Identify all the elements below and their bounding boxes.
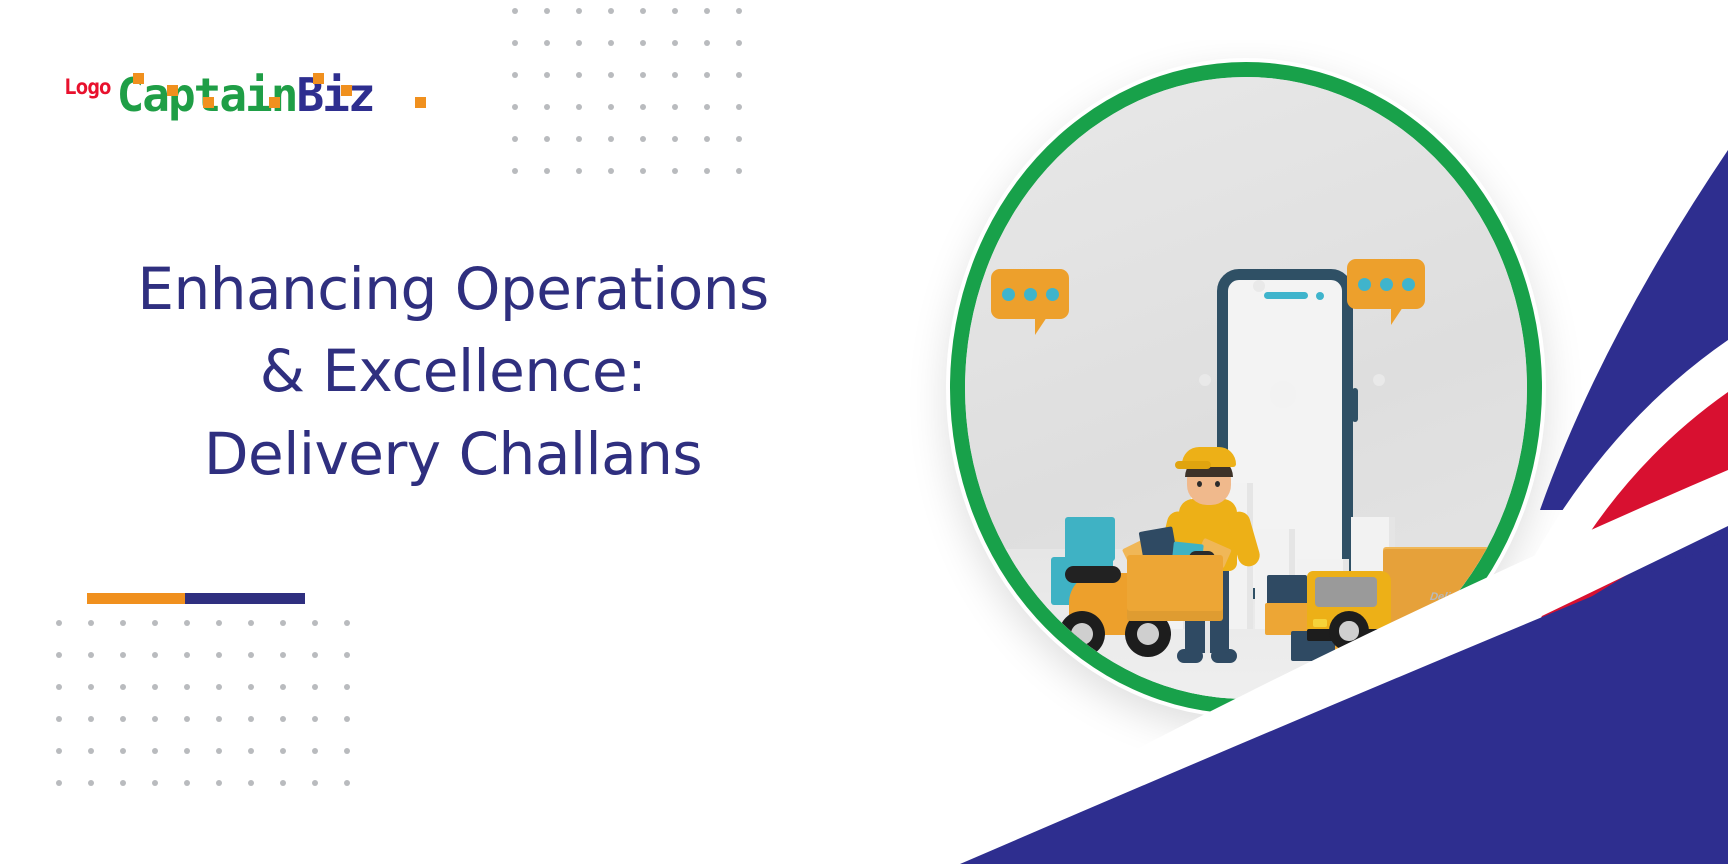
decorative-dot <box>216 780 222 786</box>
decorative-dot <box>608 136 614 142</box>
decorative-dot <box>576 40 582 46</box>
decorative-dot <box>544 72 550 78</box>
decorative-dot <box>184 780 190 786</box>
decorative-dot <box>736 104 742 110</box>
logo-accent-square-1 <box>133 73 144 84</box>
logo-badge-text: Logo <box>64 77 111 118</box>
decorative-dot <box>704 168 710 174</box>
decorative-dot <box>88 780 94 786</box>
decorative-dot <box>344 652 350 658</box>
chat-bubble-icon <box>991 269 1069 319</box>
scooter-seat <box>1065 566 1121 583</box>
decorative-dot <box>248 716 254 722</box>
decorative-dot <box>512 40 518 46</box>
decorative-dot <box>344 716 350 722</box>
decorative-dot <box>576 8 582 14</box>
decorative-dot <box>736 40 742 46</box>
teal-box <box>1065 517 1115 561</box>
truck-brand-label: Delivery <box>1429 591 1473 603</box>
decorative-dot <box>248 748 254 754</box>
accent-bar-segment-orange <box>87 593 185 604</box>
parcel-box <box>1127 555 1223 621</box>
decorative-dot <box>152 716 158 722</box>
decorative-dot <box>184 684 190 690</box>
brand-wordmark: CaptainBiz <box>117 72 374 118</box>
decorative-dot <box>640 40 646 46</box>
decorative-dot <box>280 748 286 754</box>
decorative-dot <box>56 652 62 658</box>
truck-wheel <box>1329 611 1369 651</box>
title-line-1: Enhancing Operations <box>48 248 858 330</box>
logo-accent-square-3 <box>203 97 214 108</box>
decorative-dot <box>280 780 286 786</box>
location-pin-icon <box>1245 273 1273 301</box>
decorative-dot <box>512 104 518 110</box>
decorative-dot <box>184 652 190 658</box>
decorative-dot <box>280 620 286 626</box>
decorative-dot <box>88 684 94 690</box>
decorative-dot <box>704 40 710 46</box>
brand-name-part-2: Biz <box>296 72 373 118</box>
decorative-dot <box>152 684 158 690</box>
decorative-dot <box>672 104 678 110</box>
chat-bubble-icon <box>1347 259 1425 309</box>
decorative-dot <box>120 652 126 658</box>
location-pin-icon <box>1191 367 1219 395</box>
decorative-dot <box>672 8 678 14</box>
decorative-dot <box>56 780 62 786</box>
decorative-dot <box>120 780 126 786</box>
decorative-dot <box>672 168 678 174</box>
decorative-dot <box>152 748 158 754</box>
decorative-dot-grid-top <box>512 8 802 188</box>
decorative-dot <box>184 716 190 722</box>
decorative-dot <box>672 72 678 78</box>
decorative-dot <box>152 780 158 786</box>
logo-accent-square-5 <box>313 73 324 84</box>
location-pin-icon <box>1365 367 1393 395</box>
decorative-dot <box>120 620 126 626</box>
delivery-truck: Delivery <box>1307 531 1489 651</box>
decorative-dot <box>216 652 222 658</box>
decorative-dot <box>704 72 710 78</box>
decorative-dot <box>56 716 62 722</box>
scooter-wheel <box>1059 611 1105 657</box>
chat-bubble-dot <box>1380 278 1393 291</box>
decorative-dot <box>736 168 742 174</box>
decorative-dot <box>544 168 550 174</box>
title-line-2: & Excellence: <box>48 330 858 412</box>
courier-cap-brim <box>1175 461 1211 469</box>
chat-bubble-dot <box>1046 288 1059 301</box>
decorative-dot <box>152 620 158 626</box>
decorative-dot <box>312 780 318 786</box>
courier-eye <box>1197 481 1202 487</box>
decorative-dot <box>544 40 550 46</box>
decorative-dot <box>344 620 350 626</box>
decorative-dot <box>640 72 646 78</box>
truck-window <box>1315 577 1377 607</box>
decorative-dot <box>248 684 254 690</box>
decorative-dot <box>312 748 318 754</box>
decorative-dot <box>344 684 350 690</box>
courier-eye <box>1215 481 1220 487</box>
decorative-dot <box>184 620 190 626</box>
truck-headlight <box>1313 619 1327 627</box>
green-circle-frame: Delivery <box>950 62 1542 714</box>
decorative-dot <box>88 652 94 658</box>
decorative-dot <box>544 8 550 14</box>
title-accent-bar <box>87 593 305 604</box>
phone-side-button <box>1352 388 1358 422</box>
parcel <box>1267 575 1307 605</box>
decorative-dot <box>704 8 710 14</box>
chat-bubble-dot <box>1024 288 1037 301</box>
decorative-dot <box>736 72 742 78</box>
decorative-dot <box>248 780 254 786</box>
title-line-3: Delivery Challans <box>48 413 858 495</box>
decorative-dot <box>120 716 126 722</box>
decorative-dot <box>512 72 518 78</box>
decorative-dot <box>152 652 158 658</box>
decorative-dot <box>576 104 582 110</box>
decorative-dot <box>544 104 550 110</box>
decorative-dot <box>280 684 286 690</box>
chat-bubble-dot <box>1002 288 1015 301</box>
decorative-dot <box>56 620 62 626</box>
decorative-dot <box>120 748 126 754</box>
logo-accent-square-2 <box>167 85 178 96</box>
decorative-dot <box>704 104 710 110</box>
decorative-dot <box>576 136 582 142</box>
decorative-dot <box>608 72 614 78</box>
decorative-dot <box>120 684 126 690</box>
decorative-dot <box>344 780 350 786</box>
illustration-photo: Delivery <box>965 77 1527 699</box>
decorative-dot <box>608 104 614 110</box>
slide-canvas: Logo CaptainBiz Enhancing Operations & E… <box>0 0 1728 864</box>
decorative-dot <box>56 684 62 690</box>
decorative-dot <box>184 748 190 754</box>
decorative-dot <box>312 684 318 690</box>
decorative-dot <box>608 168 614 174</box>
decorative-dot <box>280 716 286 722</box>
decorative-dot <box>544 136 550 142</box>
hero-illustration: Delivery <box>900 40 1728 864</box>
decorative-dot <box>216 716 222 722</box>
decorative-dot <box>640 136 646 142</box>
decorative-dot <box>640 8 646 14</box>
chat-bubble-dot <box>1358 278 1371 291</box>
phone-camera-dot <box>1316 292 1324 300</box>
decorative-dot <box>576 72 582 78</box>
decorative-dot <box>216 620 222 626</box>
decorative-dot <box>312 652 318 658</box>
logo-accent-square-6 <box>341 85 352 96</box>
decorative-dot <box>216 748 222 754</box>
decorative-dot <box>312 620 318 626</box>
decorative-dot <box>512 168 518 174</box>
truck-wheel <box>1407 611 1447 651</box>
delivery-courier <box>1155 413 1265 663</box>
decorative-dot <box>736 136 742 142</box>
accent-bar-segment-navy <box>185 593 305 604</box>
decorative-dot <box>344 748 350 754</box>
decorative-dot <box>512 8 518 14</box>
decorative-dot <box>608 8 614 14</box>
decorative-dot <box>736 8 742 14</box>
decorative-dot <box>216 684 222 690</box>
decorative-dot <box>672 136 678 142</box>
logo-accent-square-4 <box>269 97 280 108</box>
decorative-dot <box>312 716 318 722</box>
decorative-dot <box>88 620 94 626</box>
decorative-dot <box>640 104 646 110</box>
decorative-dot <box>576 168 582 174</box>
logo-accent-square-7 <box>415 97 426 108</box>
chat-bubble-dot <box>1402 278 1415 291</box>
decorative-dot <box>608 40 614 46</box>
decorative-dot <box>248 620 254 626</box>
decorative-dot <box>280 652 286 658</box>
decorative-dot <box>88 716 94 722</box>
decorative-dot <box>88 748 94 754</box>
decorative-dot <box>512 136 518 142</box>
decorative-dot <box>56 748 62 754</box>
decorative-dot <box>640 168 646 174</box>
decorative-dot <box>672 40 678 46</box>
decorative-dot <box>248 652 254 658</box>
page-title: Enhancing Operations & Excellence: Deliv… <box>48 248 858 495</box>
decorative-dot-grid-bottom <box>56 620 386 860</box>
decorative-dot <box>704 136 710 142</box>
brand-logo[interactable]: Logo CaptainBiz <box>64 72 374 118</box>
